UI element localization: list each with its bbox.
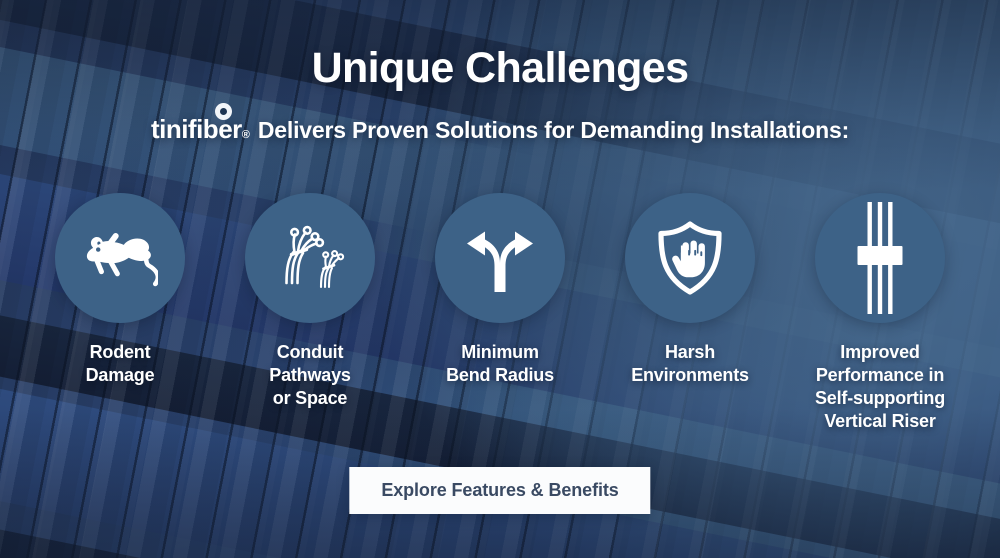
shield-fist-icon (653, 219, 727, 297)
tinifiber-dot-logo-icon (215, 103, 232, 120)
subtitle-row: tinifiber ® Delivers Proven Solutions fo… (0, 114, 1000, 145)
brand-name: tinifiber (151, 114, 242, 145)
feature-item-vertical-riser[interactable]: Improved Performance in Self-supporting … (815, 193, 945, 433)
feature-label: Improved Performance in Self-supporting … (788, 341, 973, 433)
hero-content: Unique Challenges tinifiber ® Delivers P… (0, 0, 1000, 558)
feature-label: Conduit Pathways or Space (218, 341, 403, 410)
feature-icon-circle (245, 193, 375, 323)
feature-label: Rodent Damage (28, 341, 213, 387)
subtitle-text: Delivers Proven Solutions for Demanding … (258, 117, 849, 144)
feature-item-conduit[interactable]: Conduit Pathways or Space (245, 193, 375, 410)
feature-icon-circle (815, 193, 945, 323)
feature-icon-circle (625, 193, 755, 323)
page-title: Unique Challenges (0, 44, 1000, 93)
trademark-symbol: ® (242, 129, 250, 141)
explore-features-button[interactable]: Explore Features & Benefits (349, 467, 650, 514)
feature-list: Rodent Damage (0, 193, 1000, 433)
feature-item-harsh-environments[interactable]: Harsh Environments (625, 193, 755, 387)
feature-item-rodent-damage[interactable]: Rodent Damage (55, 193, 185, 387)
fiber-strands-icon (273, 221, 347, 295)
feature-icon-circle (55, 193, 185, 323)
feature-item-bend-radius[interactable]: Minimum Bend Radius (435, 193, 565, 387)
fork-arrows-icon (461, 222, 539, 294)
riser-clamp-icon (851, 202, 909, 314)
brand-logo: tinifiber ® (151, 114, 250, 145)
feature-icon-circle (435, 193, 565, 323)
feature-label: Minimum Bend Radius (408, 341, 593, 387)
rat-icon (82, 227, 158, 289)
hero-banner: Unique Challenges tinifiber ® Delivers P… (0, 0, 1000, 558)
feature-label: Harsh Environments (598, 341, 783, 387)
